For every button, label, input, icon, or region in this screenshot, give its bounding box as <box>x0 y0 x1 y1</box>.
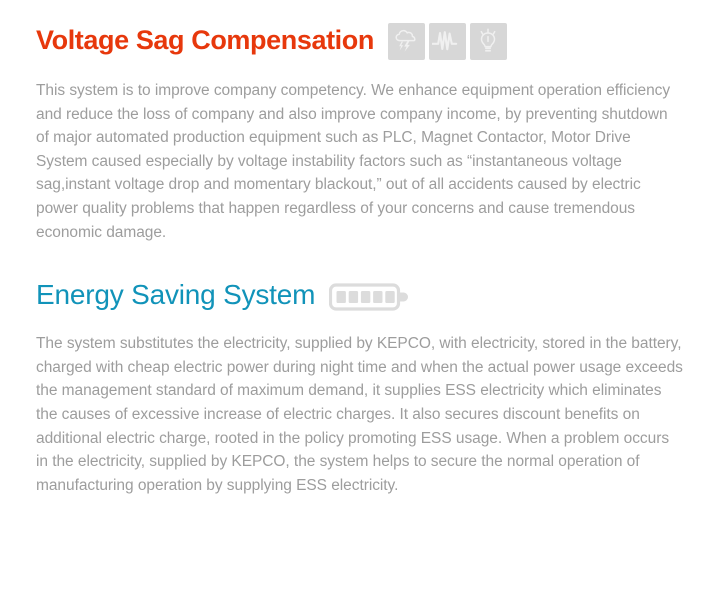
page-title-energy-saving-system: Energy Saving System <box>36 281 315 309</box>
section-body-voltage: This system is to improve company compet… <box>36 79 684 244</box>
icon-tile-lightbulb <box>470 23 507 60</box>
waveform-icon <box>432 28 462 54</box>
page-title-voltage-sag-compensation: Voltage Sag Compensation <box>36 27 374 54</box>
heading-row-energy: Energy Saving System <box>36 273 684 317</box>
heading-row-voltage: Voltage Sag Compensation <box>36 18 684 62</box>
storm-cloud-lightning-icon <box>393 28 419 54</box>
icon-tile-waveform <box>429 23 466 60</box>
section-body-energy: The system substitutes the electricity, … <box>36 332 684 497</box>
battery-full-icon <box>329 281 409 313</box>
section-energy-saving-system: Energy Saving System <box>36 244 684 497</box>
section-voltage-sag-compensation: Voltage Sag Compensation <box>36 0 684 244</box>
light-bulb-icon <box>476 28 500 54</box>
icon-group-energy <box>329 281 409 313</box>
icon-tile-storm <box>388 23 425 60</box>
page-root: Voltage Sag Compensation <box>0 0 720 600</box>
icon-tile-group-voltage <box>388 23 507 60</box>
